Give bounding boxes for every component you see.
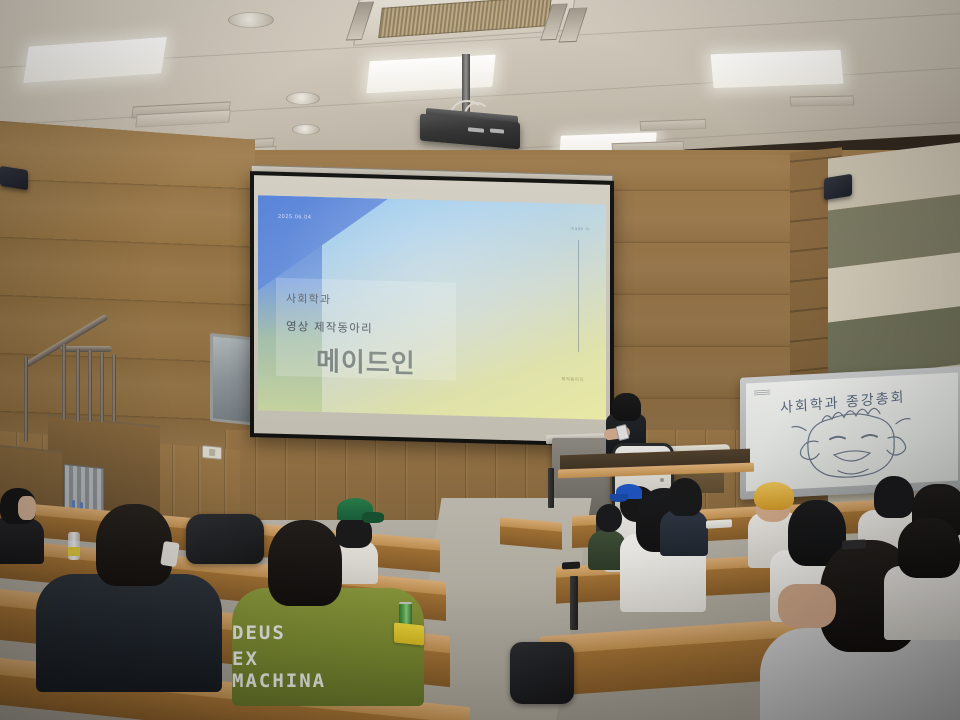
- whiteboard-face-doodle: [746, 372, 958, 491]
- railing-post: [62, 344, 66, 420]
- wall-speaker: [824, 174, 852, 200]
- student-hair: [898, 518, 960, 578]
- student-hair: [96, 504, 172, 586]
- presentation-slide: 2025.06.04 made in 제작동아리 사회학과 영상 제작동아리 메…: [258, 195, 606, 419]
- railing-post: [88, 350, 92, 422]
- ceiling-light-panel: [711, 50, 844, 88]
- desk-leg: [548, 468, 554, 508]
- ceiling-light-panel: [366, 55, 495, 94]
- student-torso: [660, 510, 708, 556]
- light-switch[interactable]: [202, 445, 222, 460]
- presenter-hair: [612, 393, 641, 421]
- student-torso: [36, 574, 222, 692]
- yellow-snack-box: [394, 622, 424, 645]
- slide-corner-note: made in: [570, 226, 590, 232]
- slide-date: 2025.06.04: [278, 214, 312, 221]
- student-hair: [268, 520, 342, 606]
- backpack: [510, 642, 574, 704]
- phone-on-desk: [562, 562, 580, 570]
- slide-divider-line: [578, 240, 579, 352]
- stair-handrail: [60, 346, 112, 352]
- ceiling-speaker-round: [286, 92, 320, 105]
- ceiling-speaker-round: [292, 124, 320, 135]
- ceiling-vent: [789, 95, 854, 106]
- student-head: [596, 504, 622, 532]
- railing-post: [100, 352, 104, 422]
- slide-title: 메이드인: [316, 341, 416, 381]
- student-blonde-hair-top: [754, 482, 794, 510]
- lecture-hall-scene: 2025.06.04 made in 제작동아리 사회학과 영상 제작동아리 메…: [0, 0, 960, 720]
- green-cap-brim: [362, 512, 384, 523]
- slide-footer-note: 제작동아리: [561, 376, 584, 383]
- wall-speaker: [0, 166, 28, 190]
- student-face: [18, 496, 36, 520]
- desk-leg: [570, 576, 578, 630]
- blue-cap-brim: [610, 494, 628, 502]
- backpack: [186, 514, 264, 564]
- slide-subtitle-2: 영상 제작동아리: [286, 318, 373, 336]
- railing-post: [112, 354, 116, 422]
- student-hair: [668, 478, 702, 516]
- railing-post: [76, 348, 80, 422]
- water-bottle: [68, 532, 80, 560]
- object-on-desk: [842, 539, 866, 549]
- student-torso: [0, 518, 44, 564]
- slide-subtitle-1: 사회학과: [286, 290, 331, 307]
- student-hair: [874, 476, 914, 518]
- railing-post: [24, 356, 28, 442]
- student-hand-on-desk: [778, 584, 836, 628]
- ceiling-speaker-round: [228, 12, 274, 28]
- paper-on-desk: [706, 519, 732, 528]
